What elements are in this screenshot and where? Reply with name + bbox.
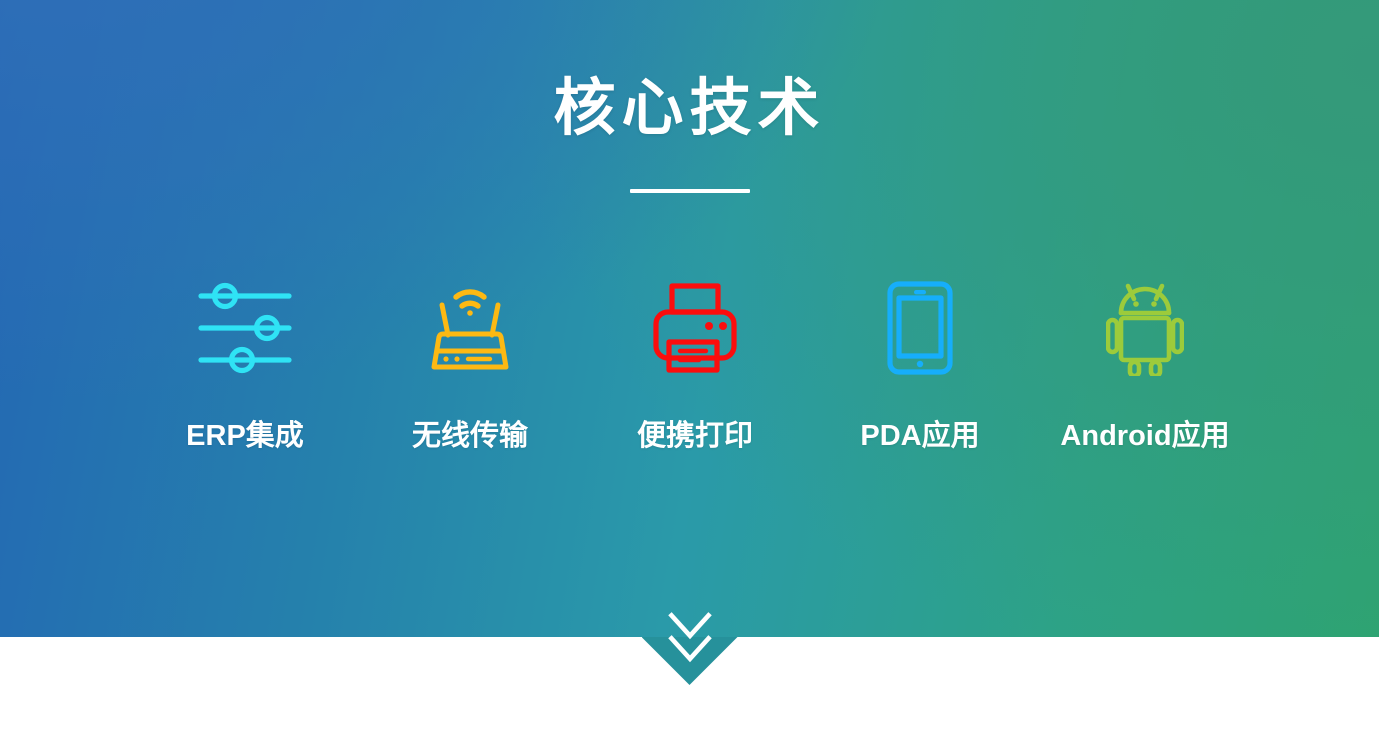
core-technology-section: 核心技术 ERP集成 <box>0 0 1379 755</box>
feature-label-printer: 便携打印 <box>637 412 753 454</box>
page-title: 核心技术 <box>0 78 1379 140</box>
feature-item-wireless[interactable]: 无线传输 <box>370 278 570 454</box>
feature-item-android[interactable]: Android应用 <box>1045 278 1245 454</box>
tablet-icon <box>885 278 955 378</box>
feature-label-android: Android应用 <box>1060 412 1229 454</box>
feature-label-wireless: 无线传输 <box>412 412 528 454</box>
printer-icon <box>649 278 741 378</box>
android-robot-icon <box>1106 278 1184 378</box>
feature-list: ERP集成 <box>145 278 1245 454</box>
feature-label-pda: PDA应用 <box>860 412 979 454</box>
feature-item-erp[interactable]: ERP集成 <box>145 278 345 454</box>
section-heading-block: 核心技术 <box>0 78 1379 193</box>
double-chevron-down-icon[interactable] <box>660 608 720 668</box>
sliders-icon <box>195 278 295 378</box>
title-divider <box>630 189 750 193</box>
feature-item-printer[interactable]: 便携打印 <box>595 278 795 454</box>
wireless-router-icon <box>420 278 520 378</box>
feature-item-pda[interactable]: PDA应用 <box>820 278 1020 454</box>
feature-label-erp: ERP集成 <box>186 412 304 454</box>
hero-gradient-background: 核心技术 ERP集成 <box>0 0 1379 637</box>
